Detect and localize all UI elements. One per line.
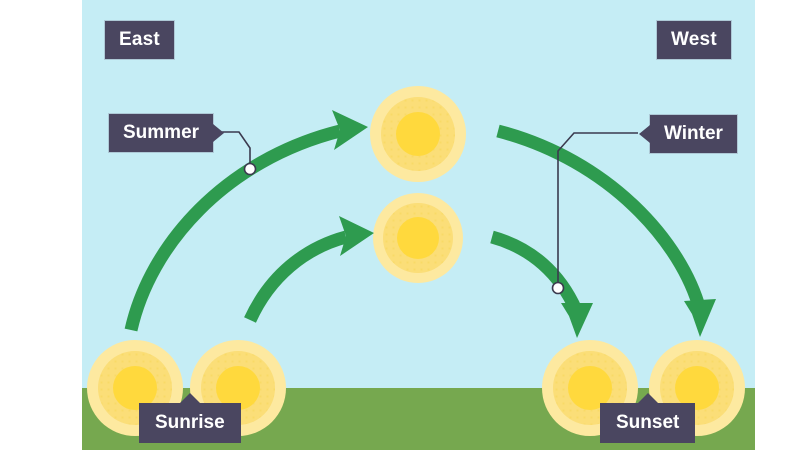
event-label-sunrise-text: Sunrise [155,413,225,432]
callout-tail-left-icon [639,125,650,143]
diagram-canvas: East West Summer Winter Sunrise Sunset [0,0,800,450]
direction-label-west-text: West [671,30,717,49]
season-callout-winter[interactable]: Winter [649,114,738,154]
callout-tail-up-icon [180,393,200,403]
season-callout-summer-body: Summer [108,113,214,153]
callout-tail-right-icon [213,124,224,142]
direction-label-west: West [656,20,732,60]
sun-zenith-summer [370,86,466,182]
sun-core [396,112,440,156]
callout-tail-up-icon [638,393,658,403]
season-callout-summer[interactable]: Summer [108,113,214,153]
season-callout-summer-text: Summer [123,123,199,142]
season-callout-winter-body: Winter [649,114,738,154]
sun-zenith-winter [373,193,463,283]
event-label-sunrise[interactable]: Sunrise [139,403,241,443]
direction-label-east-text: East [119,30,160,49]
sun-core [397,217,439,259]
season-callout-winter-text: Winter [664,124,723,143]
event-label-sunrise-body: Sunrise [139,403,241,443]
event-label-sunset[interactable]: Sunset [600,403,695,443]
event-label-sunset-text: Sunset [616,413,679,432]
direction-label-east: East [104,20,175,60]
sky-ground-scene [82,0,755,450]
event-label-sunset-body: Sunset [600,403,695,443]
